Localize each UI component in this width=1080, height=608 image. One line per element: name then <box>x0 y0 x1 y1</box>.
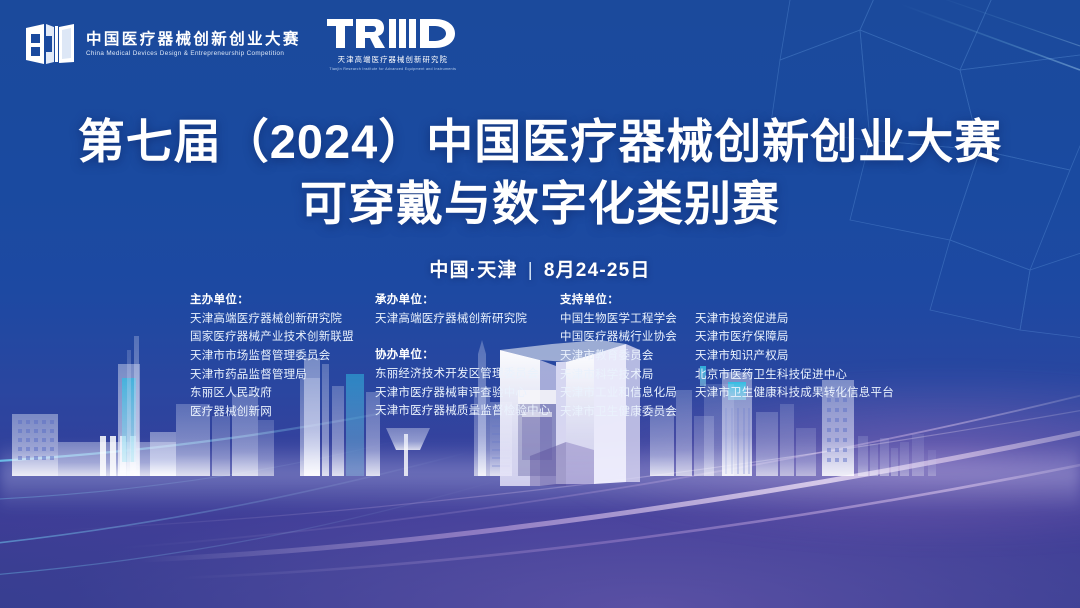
page-title: 第七届（2024）中国医疗器械创新创业大赛 可穿戴与数字化类别赛 <box>0 112 1080 234</box>
org-item: 天津高端医疗器械创新研究院 <box>375 310 560 329</box>
org-item: 天津市市场监督管理委员会 <box>190 347 375 366</box>
title-line-1: 第七届（2024）中国医疗器械创新创业大赛 <box>0 112 1080 172</box>
event-dates: 8月24-25日 <box>544 260 651 281</box>
organizers-column-supporter-a: 支持单位： 中国生物医学工程学会 中国医疗器械行业协会 天津市教育委员会 天津市… <box>560 291 695 421</box>
supporter-heading-continued <box>695 291 935 310</box>
triid-logo-en: Tianjin Research Institute for Advanced … <box>329 67 456 71</box>
event-meta: 中国·天津|8月24-25日 <box>0 255 1080 282</box>
organizer-heading: 承办单位： <box>375 291 560 310</box>
supporter-heading: 支持单位： <box>560 291 695 310</box>
org-item: 天津市医疗器械审评查验中心 <box>375 384 560 403</box>
org-item: 国家医疗器械产业技术创新联盟 <box>190 328 375 347</box>
poster-header: 中国医疗器械创新创业大赛 China Medical Devices Desig… <box>0 0 1080 88</box>
cmdc-logo-cn: 中国医疗器械创新创业大赛 <box>86 31 301 48</box>
org-item: 天津市科学技术局 <box>560 366 695 385</box>
org-item: 天津高端医疗器械创新研究院 <box>190 310 375 329</box>
event-location: 中国·天津 <box>429 260 517 281</box>
triid-wordmark-icon <box>327 17 459 51</box>
org-item: 天津市卫生健康科技成果转化信息平台 <box>695 384 935 403</box>
org-item: 中国生物医学工程学会 <box>560 310 695 329</box>
org-item: 北京市医药卫生科技促进中心 <box>695 366 935 385</box>
organizers-column-host: 主办单位： 天津高端医疗器械创新研究院 国家医疗器械产业技术创新联盟 天津市市场… <box>190 291 375 421</box>
org-item: 天津市投资促进局 <box>695 310 935 329</box>
org-item: 天津市医疗保障局 <box>695 328 935 347</box>
organizers-block: 主办单位： 天津高端医疗器械创新研究院 国家医疗器械产业技术创新联盟 天津市市场… <box>190 291 950 421</box>
org-item: 天津市医疗器械质量监督检验中心 <box>375 402 560 421</box>
org-item: 医疗器械创新网 <box>190 403 375 422</box>
organizers-column-supporter-b: 天津市投资促进局 天津市医疗保障局 天津市知识产权局 北京市医药卫生科技促进中心… <box>695 291 935 403</box>
triid-logo-cn: 天津高端医疗器械创新研究院 <box>338 54 448 65</box>
org-item: 天津市教育委员会 <box>560 347 695 366</box>
column-spacer <box>375 328 560 346</box>
title-line-2: 可穿戴与数字化类别赛 <box>0 174 1080 234</box>
cmdc-logo-en: China Medical Devices Design & Entrepren… <box>86 50 305 57</box>
triid-logo: 天津高端医疗器械创新研究院 Tianjin Research Institute… <box>327 17 459 71</box>
co-organizer-heading: 协办单位： <box>375 346 560 365</box>
org-item: 天津市知识产权局 <box>695 347 935 366</box>
org-item: 东丽区人民政府 <box>190 384 375 403</box>
open-door-logo-icon <box>24 22 76 66</box>
cmdc-logo: 中国医疗器械创新创业大赛 China Medical Devices Desig… <box>24 22 301 66</box>
host-heading: 主办单位： <box>190 291 375 310</box>
organizers-column-organizer: 承办单位： 天津高端医疗器械创新研究院 协办单位： 东丽经济技术开发区管理委员会… <box>375 291 560 421</box>
meta-separator: | <box>528 260 534 282</box>
cmdc-logo-text: 中国医疗器械创新创业大赛 China Medical Devices Desig… <box>86 31 301 57</box>
ground-glow <box>0 442 1080 512</box>
org-item: 天津市卫生健康委员会 <box>560 403 695 422</box>
poster-canvas: 中国医疗器械创新创业大赛 China Medical Devices Desig… <box>0 0 1080 608</box>
org-item: 天津市工业和信息化局 <box>560 384 695 403</box>
org-item: 天津市药品监督管理局 <box>190 366 375 385</box>
org-item: 中国医疗器械行业协会 <box>560 328 695 347</box>
org-item: 东丽经济技术开发区管理委员会 <box>375 365 560 384</box>
